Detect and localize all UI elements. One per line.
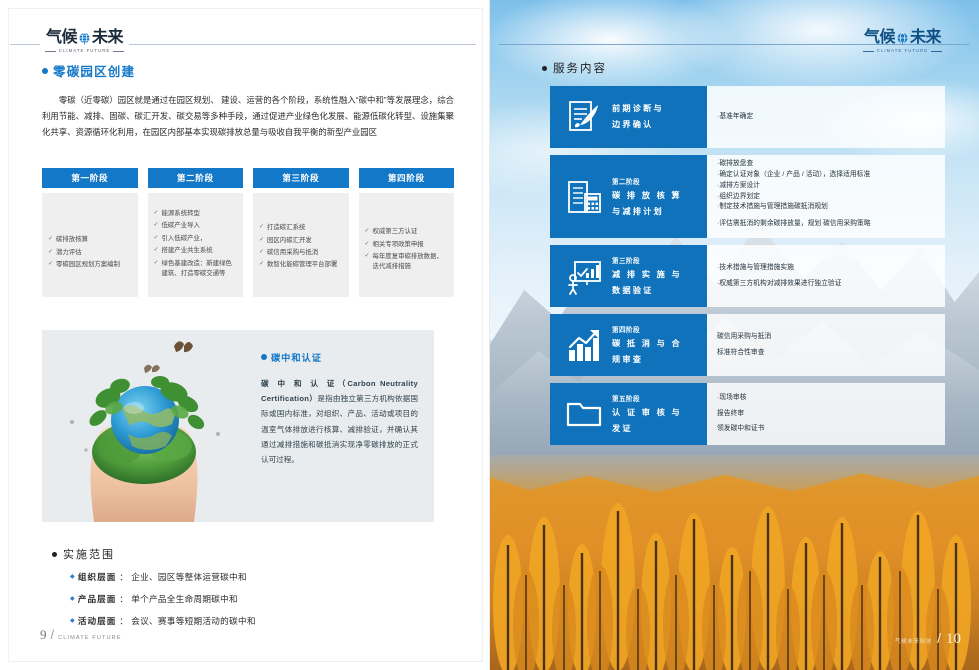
service-row[interactable]: 第三阶段 减 排 实 施 与 数据验证 ·技术措施与管理措施实施 ·权威第三方机… [550,245,945,307]
service-name-line2: 与减排计划 [612,206,682,218]
ledger-calculator-icon [564,177,604,217]
check-icon: ✓ [259,260,264,270]
stage-item: ✓零碳园区规划方案编制 [48,260,132,270]
stage-item-label: 每年度复审碳排放数据，迭代减排措施 [373,252,448,272]
stage-item: ✓碳排放核算 [48,235,132,245]
service-name-line2: 规审查 [612,354,682,366]
service-bullet: 报告终审 [717,409,935,420]
service-bullet: ·权威第三方机构对减排效果进行独立验证 [717,279,935,290]
left-page-footer: 9 / CLIMATE FUTURE [40,627,122,643]
check-icon: ✓ [154,221,159,231]
service-stage-label: 第五阶段 [612,393,682,403]
service-row-details: 碳信用采购与抵消 标准符合性审查 [707,314,945,376]
service-name-line1: 碳 排 放 核 算 [612,190,682,202]
service-row-details: ·技术措施与管理措施实施 ·权威第三方机构对减排效果进行独立验证 [707,245,945,307]
service-row-header: 第三阶段 减 排 实 施 与 数据验证 [550,245,707,307]
page-number: 10 [946,631,961,648]
hands-holding-earth-photo [42,330,247,522]
scope-item: ◆ 产品层面 ： 单个产品全生命周期碳中和 [70,593,450,605]
service-content-heading: 服务内容 [542,60,607,76]
stage-body: ✓碳排放核算 ✓潜力评估 ✓零碳园区规划方案编制 [42,193,138,297]
stage-body: ✓权威第三方认证 ✓相关专项政策申报 ✓每年度复审碳排放数据，迭代减排措施 [359,193,455,297]
stage-item-label: 相关专项政策申报 [373,240,424,250]
service-bullet: ·组织边界划定 [717,192,935,203]
service-labels: 第四阶段 碳 抵 消 与 合 规审查 [612,324,682,366]
scope-item: ◆ 活动层面 ： 会议、赛事等短期活动的碳中和 [70,615,450,627]
stage-header: 第三阶段 [253,168,349,188]
service-name-line2: 边界确认 [612,119,664,131]
stage-item-label: 零碳园区规划方案编制 [56,260,120,270]
brand-name-part2: 候 [879,30,895,46]
scope-item-sep: ： [119,571,128,583]
brand-name-part2: 候 [62,30,78,46]
service-labels: 第五阶段 认 证 审 核 与 发证 [612,393,682,435]
scope-item-key: 产品层面 [78,593,116,605]
stage-item-label: 搭建产业共生系统 [162,246,213,256]
diamond-bullet-icon: ◆ [70,573,75,580]
service-bullet: ·现场审核 [717,393,935,404]
brand-name-part3: 未来 [910,30,941,46]
scope-item-key: 活动层面 [78,615,116,627]
check-icon: ✓ [259,223,264,233]
scope-heading-label: 实施范围 [63,546,115,562]
stage-columns: 第一阶段 ✓碳排放核算 ✓潜力评估 ✓零碳园区规划方案编制 第二阶段 ✓能源系统… [42,168,454,297]
service-name-line1: 前期诊断与 [612,103,664,115]
presentation-chart-person-icon [564,256,604,296]
page-number-slash: / [51,627,55,642]
section-heading-label: 零碳园区创建 [53,61,135,80]
bullet-dot-icon [42,68,48,74]
service-bullet: ·评估需抵消的剩余碳排放量，规划 碳信用采购策略 [717,219,935,230]
globe-icon [896,32,909,45]
service-bullet: ·技术措施与管理措施实施 [717,263,935,274]
stage-item: ✓权威第三方认证 [365,227,449,237]
service-bullet: ·确定认证对象（企业 / 产品 / 活动），选择适用标准 [717,170,935,181]
stage-item: ✓绿色基建改造：新建绿色建筑、打造零碳交通等 [154,259,238,279]
scope-item-sep: ： [119,593,128,605]
stage-item-label: 碳信用采购与抵消 [267,248,318,258]
stage-item-label: 低碳产业导入 [162,221,200,231]
stage-item-label: 绿色基建改造：新建绿色建筑、打造零碳交通等 [162,259,237,279]
service-row-header: 第二阶段 碳 排 放 核 算 与减排计划 [550,155,707,238]
page-spread: 气 候 未来 CLIMATE FUTURE [0,0,979,670]
service-bullet: ·碳排放盘查 [717,159,935,170]
stage-item: ✓数智化能碳管理平台部署 [259,260,343,270]
service-stage-label: 第三阶段 [612,255,682,265]
check-icon: ✓ [365,252,370,262]
scope-item-key: 组织层面 [78,571,116,583]
page-number-slash: / [937,630,941,646]
right-logo-bar: 气 候 未来 CLIMATE FUTURE [499,30,969,56]
service-row[interactable]: 第五阶段 认 证 审 核 与 发证 ·现场审核 报告终审 领发碳中和证书 [550,383,945,445]
stage-body: ✓能源系统转型 ✓低碳产业导入 ✓引入低碳产业， ✓搭建产业共生系统 ✓绿色基建… [148,193,244,297]
certification-title: 碳中和认证 [261,350,418,364]
service-bullet: ·制定技术措施与管理措施碳抵消规划 [717,202,935,213]
service-name-line1: 认 证 审 核 与 [612,407,682,419]
document-pen-icon [564,97,604,137]
stage-body: ✓打造碳汇系统 ✓园区内碳汇开发 ✓碳信用采购与抵消 ✓数智化能碳管理平台部署 [253,193,349,297]
stage-item: ✓潜力评估 [48,248,132,258]
stage-item: ✓每年度复审碳排放数据，迭代减排措施 [365,252,449,272]
check-icon: ✓ [154,259,159,269]
stage-header: 第四阶段 [359,168,455,188]
stage-item: ✓打造碳汇系统 [259,223,343,233]
brand-name-part1: 气 [46,30,62,46]
check-icon: ✓ [48,235,53,245]
service-row-details: ·碳排放盘查 ·确定认证对象（企业 / 产品 / 活动），选择适用标准 ·减排方… [707,155,945,238]
right-page-footer: 气候未来科技 / 10 [895,630,961,648]
intro-paragraph: 零碳（近零碳）园区就是通过在园区规划、 建设、运营的各个阶段，系统性融入“碳中和… [42,92,454,140]
stage-item: ✓相关专项政策申报 [365,240,449,250]
service-labels: 前期诊断与 边界确认 [612,103,664,131]
check-icon: ✓ [259,248,264,258]
right-page: 气 候 未来 CLIMATE FUTURE 服务 [490,0,979,670]
check-icon: ✓ [154,209,159,219]
brand-name-en: CLIMATE FUTURE [877,48,928,53]
stage-item-label: 能源系统转型 [162,209,200,219]
brand-logo: 气 候 未来 CLIMATE FUTURE [40,30,129,53]
service-row[interactable]: 第四阶段 碳 抵 消 与 合 规审查 碳信用采购与抵消 标准符合性审查 [550,314,945,376]
stage-item: ✓园区内碳汇开发 [259,236,343,246]
check-icon: ✓ [48,260,53,270]
bullet-dot-icon [52,552,57,557]
scope-list: ◆ 组织层面 ： 企业、园区等整体运营碳中和 ◆ 产品层面 ： 单个产品全生命周… [70,571,450,637]
certification-panel: 碳中和认证 碳 中 和 认 证（Carbon Neutrality Certif… [247,330,434,522]
brand-name-part1: 气 [864,30,880,46]
stage-item-label: 引入低碳产业， [162,234,207,244]
stage-item-label: 园区内碳汇开发 [267,236,312,246]
stage-item-label: 打造碳汇系统 [267,223,305,233]
stage-item: ✓低碳产业导入 [154,221,238,231]
stage-header: 第二阶段 [148,168,244,188]
scope-heading: 实施范围 [52,546,115,562]
service-row[interactable]: 第二阶段 碳 排 放 核 算 与减排计划 ·碳排放盘查 ·确定认证对象（企业 /… [550,155,945,238]
check-icon: ✓ [154,246,159,256]
bullet-dot-icon [261,354,267,360]
stage-column: 第三阶段 ✓打造碳汇系统 ✓园区内碳汇开发 ✓碳信用采购与抵消 ✓数智化能碳管理… [253,168,349,297]
service-name-line1: 减 排 实 施 与 [612,269,682,281]
folder-icon [564,394,604,434]
service-name-line2: 发证 [612,423,682,435]
service-bullet: ·基准年确定 [717,112,935,123]
check-icon: ✓ [259,236,264,246]
scope-item: ◆ 组织层面 ： 企业、园区等整体运营碳中和 [70,571,450,583]
service-name-line1: 碳 抵 消 与 合 [612,338,682,350]
service-bullet: 标准符合性审查 [717,348,935,359]
brand-name-part3: 未来 [92,30,123,46]
section-heading-zero-carbon-park: 零碳园区创建 [42,61,135,80]
service-row-details: ·现场审核 报告终审 领发碳中和证书 [707,383,945,445]
growth-bar-arrow-icon [564,325,604,365]
bullet-dot-icon [542,66,547,71]
service-stage-label: 第二阶段 [612,176,682,186]
service-bullet: 领发碳中和证书 [717,424,935,435]
service-labels: 第三阶段 减 排 实 施 与 数据验证 [612,255,682,297]
certification-body: 碳 中 和 认 证（Carbon Neutrality Certificatio… [261,376,418,467]
diamond-bullet-icon: ◆ [70,617,75,624]
stage-item: ✓引入低碳产业， [154,234,238,244]
service-content-heading-label: 服务内容 [553,60,607,76]
photo-and-certification-block: 碳中和认证 碳 中 和 认 证（Carbon Neutrality Certif… [42,330,434,522]
stage-header: 第一阶段 [42,168,138,188]
service-row-header: 第四阶段 碳 抵 消 与 合 规审查 [550,314,707,376]
service-list: 前期诊断与 边界确认 ·基准年确定 [550,86,945,452]
stage-item-label: 潜力评估 [56,248,82,258]
stage-item-label: 权威第三方认证 [373,227,418,237]
check-icon: ✓ [154,234,159,244]
check-icon: ✓ [48,248,53,258]
service-row-details: ·基准年确定 [707,86,945,148]
certification-title-label: 碳中和认证 [271,350,322,364]
service-name-line2: 数据验证 [612,285,682,297]
globe-icon [78,32,91,45]
left-logo-bar: 气 候 未来 CLIMATE FUTURE [10,30,480,56]
brand-logo: 气 候 未来 CLIMATE FUTURE [858,30,947,53]
stage-column: 第一阶段 ✓碳排放核算 ✓潜力评估 ✓零碳园区规划方案编制 [42,168,138,297]
service-bullet: ·减排方案设计 [717,181,935,192]
footer-brand: 气候未来科技 [895,637,932,645]
service-row-header: 前期诊断与 边界确认 [550,86,707,148]
stage-column: 第四阶段 ✓权威第三方认证 ✓相关专项政策申报 ✓每年度复审碳排放数据，迭代减排… [359,168,455,297]
service-labels: 第二阶段 碳 排 放 核 算 与减排计划 [612,176,682,218]
service-row[interactable]: 前期诊断与 边界确认 ·基准年确定 [550,86,945,148]
left-page: 气 候 未来 CLIMATE FUTURE [0,0,490,670]
page-number: 9 [40,627,47,643]
scope-item-value: 单个产品全生命周期碳中和 [131,593,238,605]
certification-lead-cn: 碳 中 和 认 证 [261,379,338,388]
diamond-bullet-icon: ◆ [70,595,75,602]
stage-item: ✓搭建产业共生系统 [154,246,238,256]
brand-name-en: CLIMATE FUTURE [59,48,110,53]
scope-item-value: 会议、赛事等短期活动的碳中和 [131,615,256,627]
check-icon: ✓ [365,227,370,237]
certification-body-text: 是指由独立第三方机构依据国际或国内标准，对组织、产品、活动或项目的温室气体排放进… [261,394,418,464]
stage-item: ✓能源系统转型 [154,209,238,219]
stage-item-label: 数智化能碳管理平台部署 [267,260,337,270]
stage-item-label: 碳排放核算 [56,235,88,245]
service-stage-label: 第四阶段 [612,324,682,334]
stage-column: 第二阶段 ✓能源系统转型 ✓低碳产业导入 ✓引入低碳产业， ✓搭建产业共生系统 … [148,168,244,297]
scope-item-value: 企业、园区等整体运营碳中和 [131,571,247,583]
scope-item-sep: ： [119,615,128,627]
service-bullet: 碳信用采购与抵消 [717,332,935,343]
check-icon: ✓ [365,240,370,250]
service-row-header: 第五阶段 认 证 审 核 与 发证 [550,383,707,445]
stage-item: ✓碳信用采购与抵消 [259,248,343,258]
footer-brand: CLIMATE FUTURE [58,635,121,641]
